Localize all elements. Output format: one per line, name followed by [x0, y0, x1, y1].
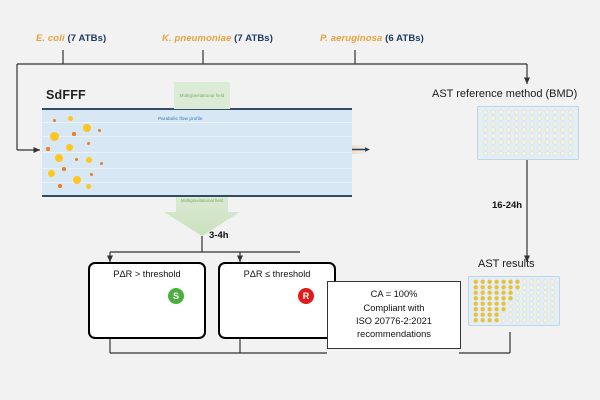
decision-box-resistant: PΔR ≤ threshold	[218, 262, 336, 339]
reference-microplate	[477, 106, 579, 160]
particle	[86, 184, 91, 189]
particle	[58, 184, 62, 188]
sdfff-channel: Parabolic flow profile	[42, 108, 352, 197]
susceptible-badge: S	[168, 288, 184, 304]
particle	[83, 124, 91, 132]
conclusion-line-3: ISO 20776-2:2021	[356, 315, 432, 328]
organism-label-0: E. coli (7 ATBs)	[36, 33, 106, 44]
particle	[46, 147, 50, 151]
particle	[62, 167, 66, 171]
particle	[75, 158, 78, 161]
organism-label-2: P. aeruginosa (6 ATBs)	[320, 33, 424, 44]
reference-method-title: AST reference method (BMD)	[432, 88, 577, 100]
figure-canvas: E. coli (7 ATBs) K. pneumoniae (7 ATBs) …	[0, 0, 600, 400]
particle	[87, 142, 90, 145]
particle	[72, 132, 76, 136]
particle	[100, 162, 103, 165]
microplate-96-well-results-icon	[469, 277, 559, 325]
particle	[73, 176, 81, 184]
decision-box-susceptible: PΔR > threshold	[88, 262, 206, 339]
organism-name: P. aeruginosa	[320, 33, 382, 44]
decision-condition: PΔR > threshold	[90, 269, 204, 279]
results-microplate	[468, 276, 560, 326]
microplate-96-well-icon	[478, 107, 578, 159]
organism-label-1: K. pneumoniae (7 ATBs)	[162, 33, 273, 44]
conclusion-box: CA = 100% Compliant with ISO 20776-2:202…	[327, 281, 461, 349]
conclusion-line-2: Compliant with	[364, 302, 425, 315]
particle	[53, 119, 56, 122]
organism-antibiotics: (7 ATBs)	[234, 33, 273, 44]
parabolic-flow-label: Parabolic flow profile	[158, 116, 203, 121]
resistant-badge: R	[298, 288, 314, 304]
particle	[48, 170, 55, 177]
multigravitational-field-top: Multigravitational field	[174, 82, 230, 109]
organism-name: K. pneumoniae	[162, 33, 231, 44]
organism-antibiotics: (6 ATBs)	[385, 33, 424, 44]
conclusion-line-1: CA = 100%	[371, 288, 418, 301]
decision-condition: PΔR ≤ threshold	[220, 269, 334, 279]
organism-name: E. coli	[36, 33, 65, 44]
reference-duration: 16-24h	[492, 200, 522, 211]
particle	[66, 144, 73, 151]
particle	[55, 154, 63, 162]
multigravitational-field-bottom: Multigravitational field	[174, 198, 230, 204]
particle	[68, 116, 73, 121]
sdfff-label: SdFFF	[46, 88, 86, 102]
results-title: AST results	[478, 258, 535, 270]
particle	[90, 173, 93, 176]
conclusion-line-4: recommendations	[357, 328, 431, 341]
particle	[50, 132, 59, 141]
sdfff-duration: 3-4h	[209, 230, 229, 241]
organism-antibiotics: (7 ATBs)	[67, 33, 106, 44]
particle	[98, 129, 101, 132]
particle	[86, 157, 92, 163]
